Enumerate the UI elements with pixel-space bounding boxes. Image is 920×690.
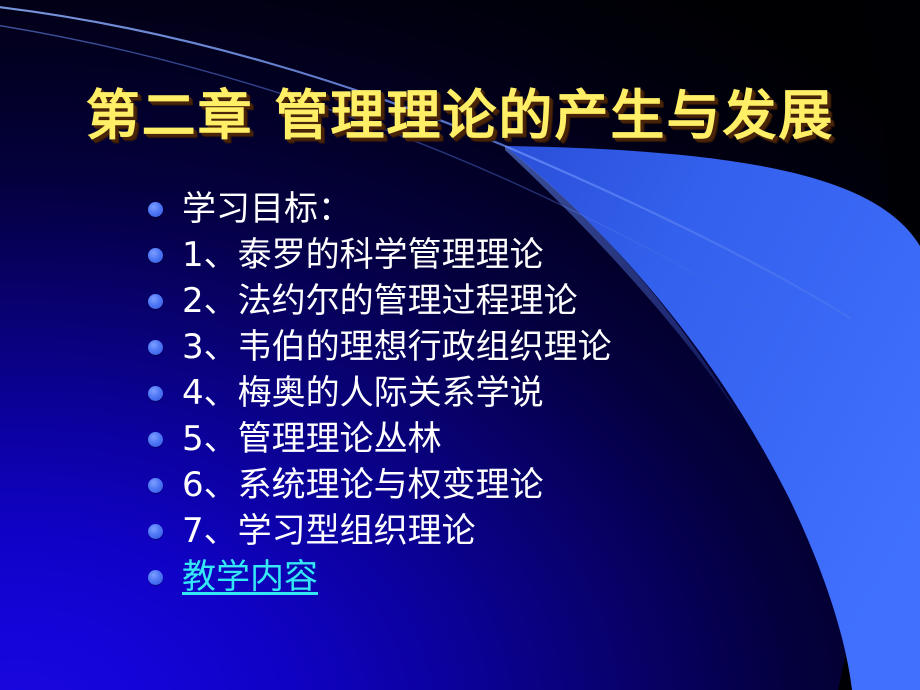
presentation-slide: 第二章 管理理论的产生与发展 学习目标： 1、泰罗的科学管理理论 2、法约尔的管…: [0, 0, 920, 690]
bullet-icon: [148, 294, 163, 309]
bullet-icon: [148, 478, 163, 493]
list-item-label: 2、法约尔的管理过程理论: [182, 278, 578, 324]
list-item: 6、系统理论与权变理论: [146, 462, 886, 508]
bullet-icon: [148, 248, 163, 263]
bullet-icon: [148, 202, 163, 217]
bullet-icon: [148, 340, 163, 355]
slide-title: 第二章 管理理论的产生与发展: [0, 84, 920, 148]
list-item-label: 4、梅奥的人际关系学说: [182, 370, 544, 416]
list-item-label: 7、学习型组织理论: [182, 508, 476, 554]
bullet-icon: [148, 570, 163, 585]
list-item-hyperlink[interactable]: 教学内容: [146, 554, 886, 600]
list-item-label: 5、管理理论丛林: [182, 416, 442, 462]
list-item: 3、韦伯的理想行政组织理论: [146, 324, 886, 370]
list-item: 4、梅奥的人际关系学说: [146, 370, 886, 416]
list-item-label: 6、系统理论与权变理论: [182, 462, 544, 508]
list-item-label: 1、泰罗的科学管理理论: [182, 232, 544, 278]
bullet-icon: [148, 524, 163, 539]
list-item-label: 3、韦伯的理想行政组织理论: [182, 324, 612, 370]
list-item: 1、泰罗的科学管理理论: [146, 232, 886, 278]
bullet-icon: [148, 386, 163, 401]
slide-bullet-list: 学习目标： 1、泰罗的科学管理理论 2、法约尔的管理过程理论 3、韦伯的理想行政…: [146, 186, 886, 600]
hyperlink-label[interactable]: 教学内容: [182, 554, 318, 600]
list-item: 7、学习型组织理论: [146, 508, 886, 554]
list-item: 学习目标：: [146, 186, 886, 232]
list-item-label: 学习目标：: [182, 186, 352, 232]
bullet-icon: [148, 432, 163, 447]
list-item: 5、管理理论丛林: [146, 416, 886, 462]
list-item: 2、法约尔的管理过程理论: [146, 278, 886, 324]
